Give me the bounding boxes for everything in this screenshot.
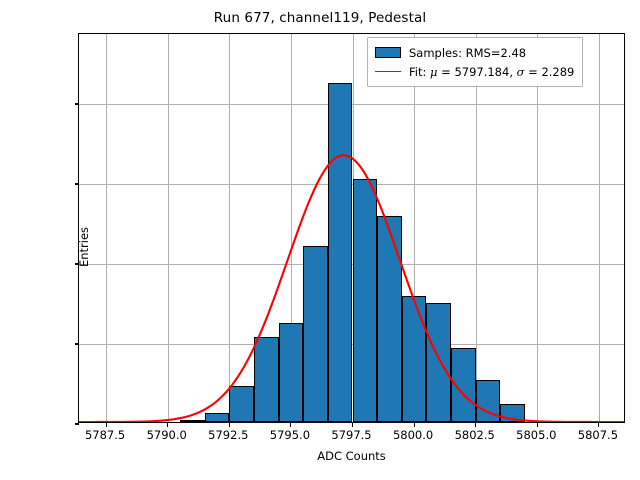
legend-fit-prefix: Fit: xyxy=(409,65,430,79)
y-axis-label: Entries xyxy=(77,167,91,327)
x-axis-tick xyxy=(290,422,291,427)
legend-entry-fit: Fit: μ = 5797.184, σ = 2.289 xyxy=(375,62,574,81)
legend-label-fit: Fit: μ = 5797.184, σ = 2.289 xyxy=(409,65,574,79)
legend-sigma-value: = 2.289 xyxy=(525,65,575,79)
x-axis-tick xyxy=(352,422,353,427)
x-axis-tick xyxy=(598,422,599,427)
x-axis-tick xyxy=(537,422,538,427)
legend-line-icon xyxy=(375,71,401,72)
legend-label-samples: Samples: RMS=2.48 xyxy=(409,46,526,60)
fit-curve-layer xyxy=(79,34,624,422)
y-axis-tick xyxy=(75,343,80,344)
legend-mu-symbol: μ xyxy=(430,65,437,79)
x-axis-tick xyxy=(229,422,230,427)
chart-figure: Run 677, channel119, Pedestal Entries 57… xyxy=(0,0,640,480)
chart-legend: Samples: RMS=2.48 Fit: μ = 5797.184, σ =… xyxy=(367,37,583,87)
x-axis-tick xyxy=(106,422,107,427)
x-axis-tick xyxy=(414,422,415,427)
fit-curve-path xyxy=(79,155,624,422)
y-axis-tick xyxy=(75,423,80,424)
legend-patch-icon xyxy=(375,47,401,59)
legend-sigma-symbol: σ xyxy=(517,65,525,79)
x-axis-tick xyxy=(167,422,168,427)
plot-area: Entries xyxy=(78,33,625,423)
legend-mu-value: = 5797.184, xyxy=(438,65,517,79)
x-axis-label: ADC Counts xyxy=(78,449,625,463)
legend-entry-samples: Samples: RMS=2.48 xyxy=(375,43,574,62)
x-axis-tick xyxy=(475,422,476,427)
y-axis-tick xyxy=(75,103,80,104)
x-axis-tick-label: 5807.5 xyxy=(538,428,640,442)
chart-title: Run 677, channel119, Pedestal xyxy=(0,10,640,26)
